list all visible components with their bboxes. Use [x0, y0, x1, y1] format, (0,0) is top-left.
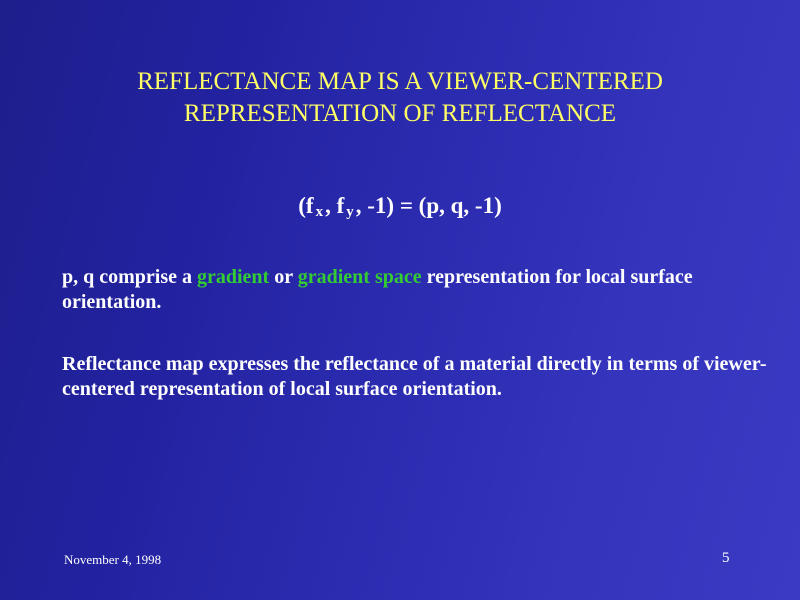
paragraph-1-segment-1: p, q comprise a [62, 266, 197, 288]
paragraph-1-segment-2: or [269, 266, 298, 288]
equation-subscript-x: x [314, 204, 326, 220]
footer-page-number: 5 [722, 550, 730, 567]
equation-part-2: , f [325, 193, 344, 218]
equation-part-1: (f [298, 193, 313, 218]
footer-date: November 4, 1998 [64, 552, 161, 568]
body-paragraph-2: Reflectance map expresses the reflectanc… [62, 352, 778, 402]
slide-title: REFLECTANCE MAP IS A VIEWER-CENTERED REP… [40, 66, 760, 130]
paragraph-1-highlight-gradient: gradient [197, 266, 269, 288]
equation-line: (fx, fy, -1) = (p, q, -1) [40, 193, 760, 219]
equation-part-3: , -1) = (p, q, -1) [356, 193, 502, 218]
body-paragraph-1: p, q comprise a gradient or gradient spa… [62, 265, 778, 315]
paragraph-1-highlight-gradient-space: gradient space [298, 266, 422, 288]
slide-title-line-1: REFLECTANCE MAP IS A VIEWER-CENTERED [40, 66, 760, 98]
slide-canvas: REFLECTANCE MAP IS A VIEWER-CENTERED REP… [0, 0, 800, 600]
equation-subscript-y: y [344, 204, 356, 220]
slide-title-line-2: REPRESENTATION OF REFLECTANCE [40, 98, 760, 130]
